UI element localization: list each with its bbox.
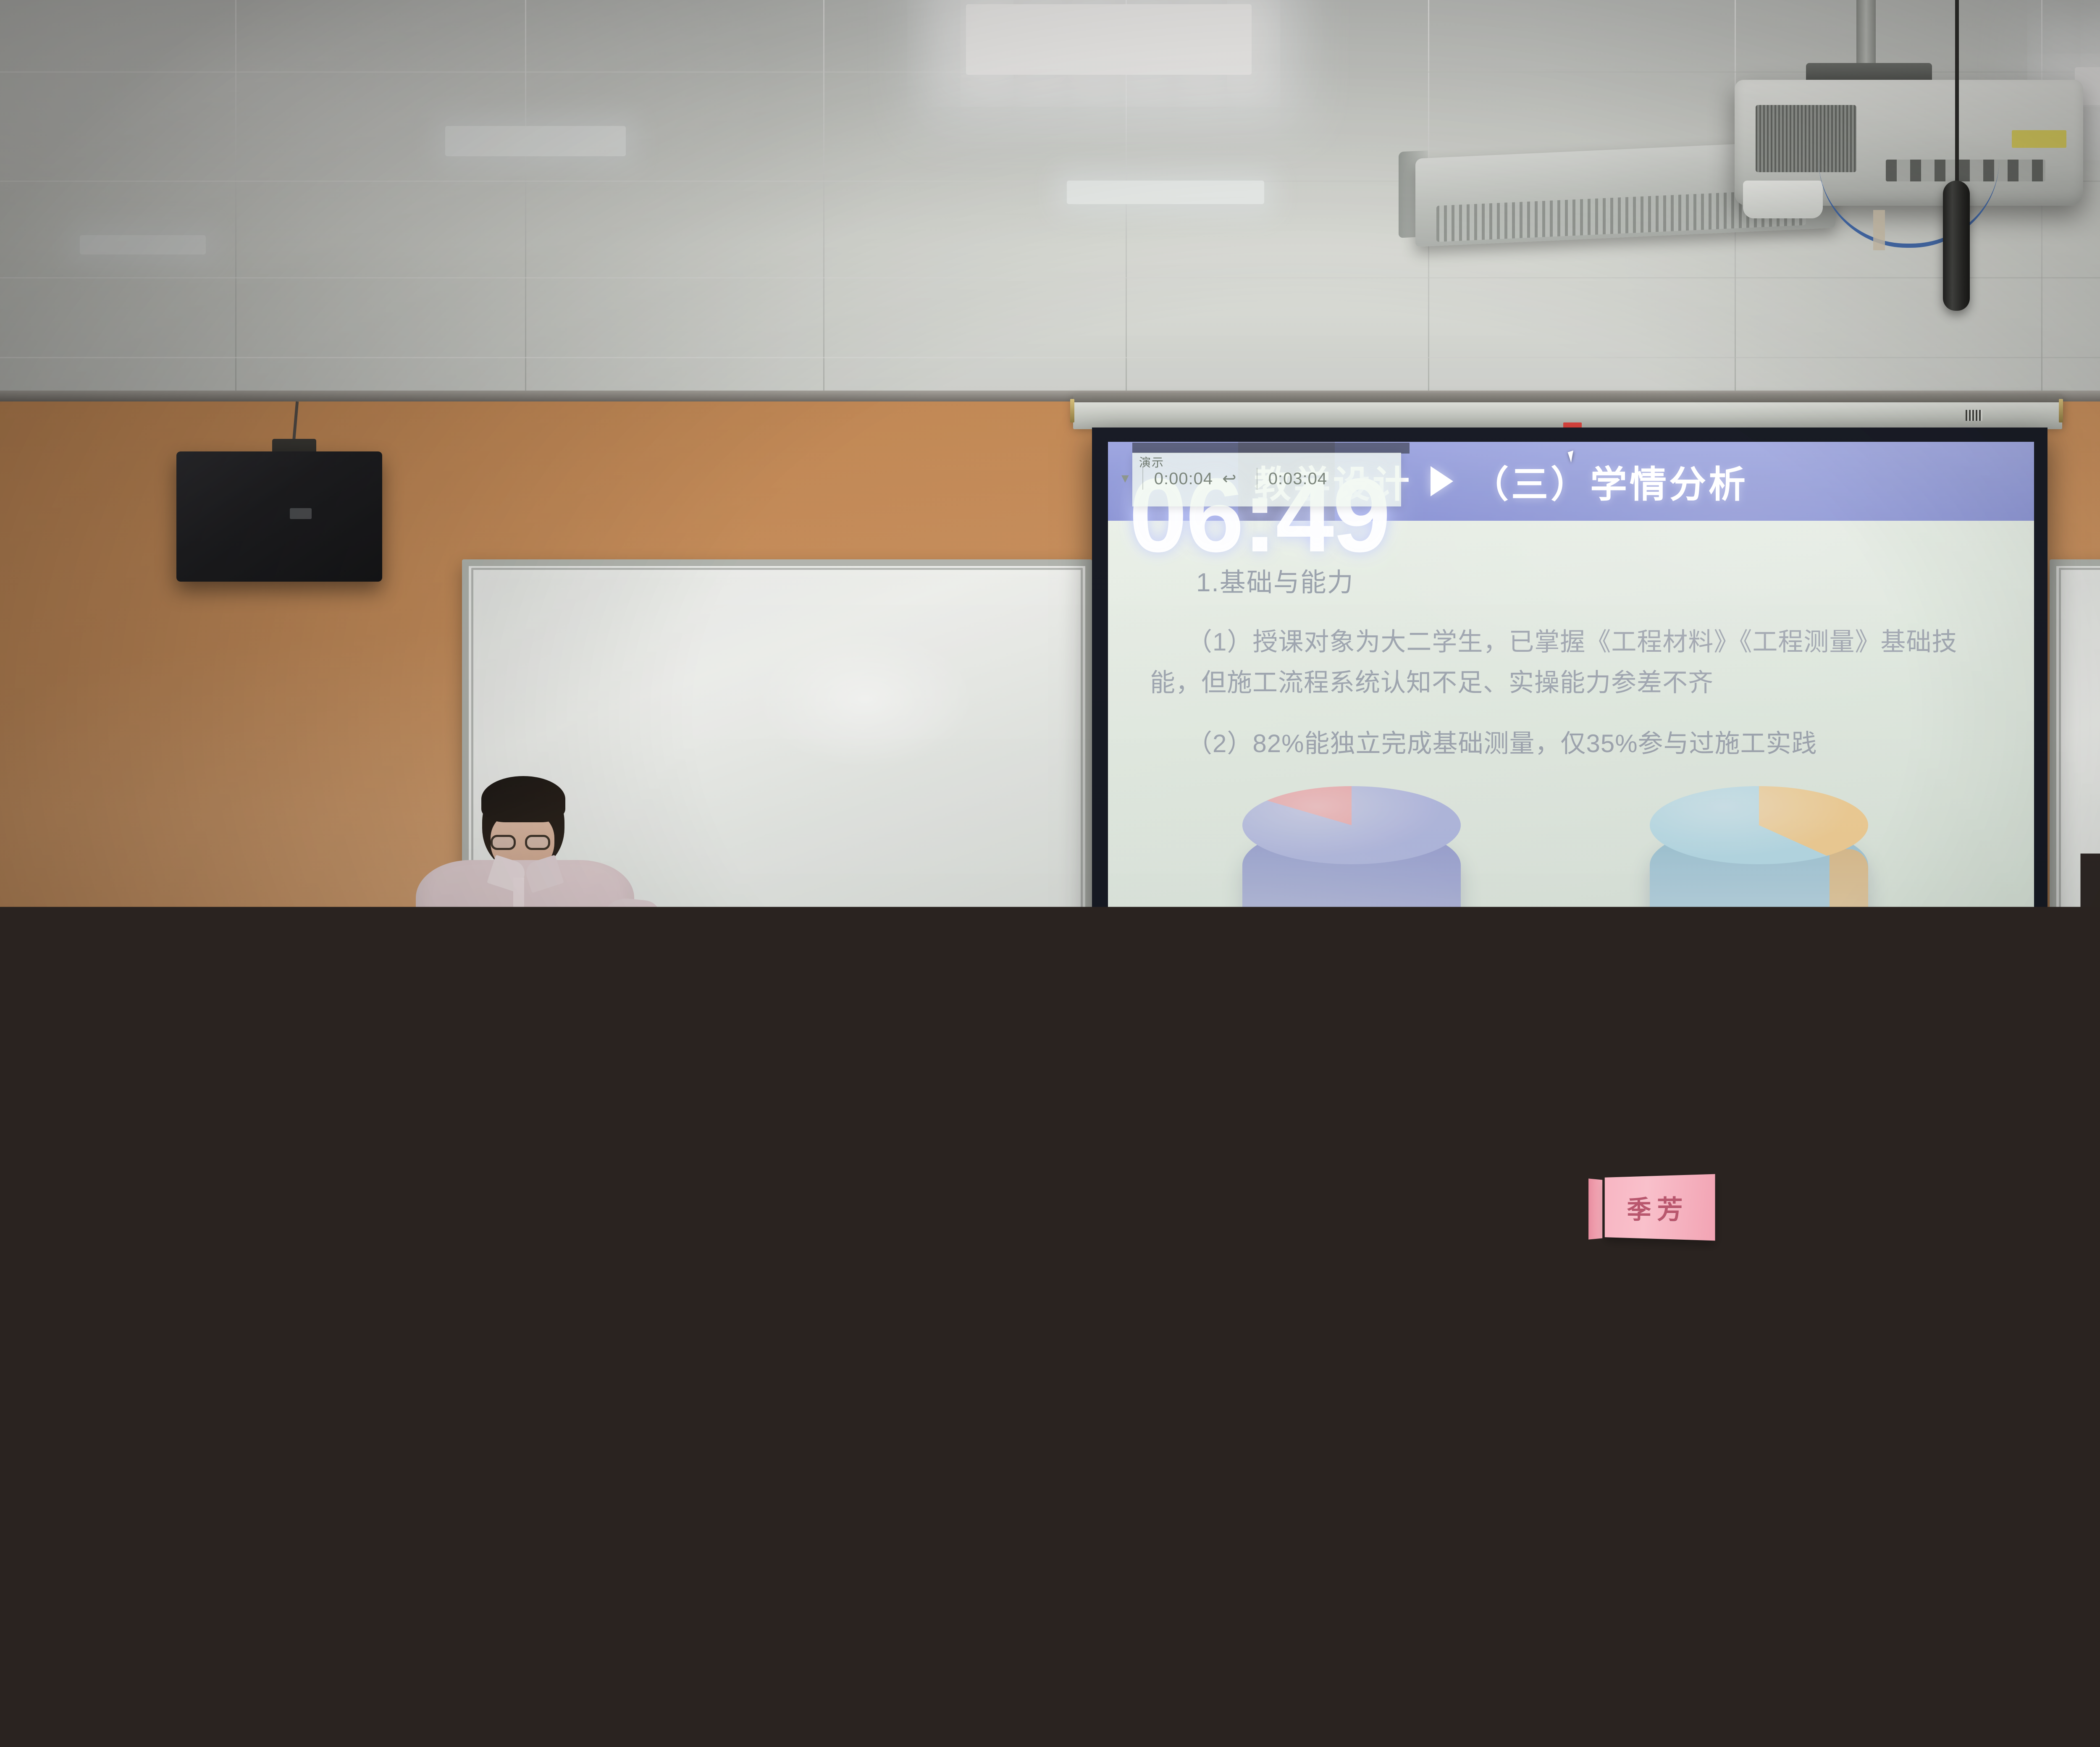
- audience-member: [538, 1062, 735, 1373]
- paper-note[interactable]: [1478, 1075, 1512, 1121]
- media-time-current: 0:00:04: [1154, 470, 1213, 488]
- pie-chart-practice-participation[interactable]: [1650, 786, 1868, 954]
- pie-chart-side-wall-accent: [1830, 849, 1868, 928]
- audience-member: [424, 1377, 601, 1613]
- presenter-hair-front: [481, 776, 565, 822]
- audience-member: [958, 1130, 1672, 1747]
- legend-color-chip: [1860, 1010, 1870, 1020]
- speaker-indicator: [290, 508, 312, 519]
- breadcrumb-arrow-icon: [1431, 466, 1453, 496]
- name-card: 季芳: [1605, 1174, 1715, 1241]
- screen-hook-left: [1070, 399, 1074, 422]
- chart-area: [1108, 769, 2034, 988]
- more-dots-icon[interactable]: [1296, 995, 1322, 1021]
- pen-icon[interactable]: [1175, 995, 1201, 1021]
- thermos-mug[interactable]: [559, 1663, 643, 1747]
- timer-panel-titlebar: [1132, 443, 1410, 454]
- legend-label: 参与过施工实践: [1721, 1003, 1838, 1027]
- legend-item: 参与过施工实践: [1703, 1003, 1860, 1027]
- water-bottle[interactable]: [739, 1230, 785, 1356]
- divider: [1257, 468, 1257, 490]
- handout-papers[interactable]: [197, 1025, 491, 1099]
- mug-lid: [570, 1650, 632, 1669]
- annotation-toolbar[interactable]: ↰: [1135, 995, 1362, 1021]
- laptop[interactable]: [1008, 1348, 1142, 1428]
- presenter-glasses-icon: [491, 835, 554, 850]
- legend-label: 不能独立完成基础测量: [1413, 1003, 1581, 1027]
- slide-paragraph-2: （2）82%能独立完成基础测量，仅35%参与过施工实践: [1187, 723, 1992, 760]
- pie-chart-top-face: [1650, 786, 1868, 864]
- legend-color-chip: [1703, 1010, 1713, 1020]
- smartphone[interactable]: [937, 1583, 1042, 1617]
- undo-arrow-icon[interactable]: ↰: [1336, 995, 1362, 1021]
- chevron-down-icon[interactable]: ▼: [1119, 472, 1131, 486]
- pie-chart-measurement-ability[interactable]: [1242, 786, 1461, 954]
- wall-speaker: [176, 451, 382, 582]
- pie-chart-top-face: [1242, 786, 1461, 864]
- whiteboard-right-inner-edge: [2059, 568, 2100, 971]
- loop-icon[interactable]: ↩: [1222, 469, 1236, 488]
- breadcrumb-part-2: （三）学情分析: [1472, 455, 1748, 508]
- camera-icon[interactable]: [1256, 995, 1282, 1021]
- bottle-cap: [740, 1219, 785, 1238]
- legend-item: 不能独立完成基础测量: [1395, 1003, 1603, 1027]
- name-card-text: 季芳: [1627, 1188, 1689, 1227]
- select-frame-icon[interactable]: [1215, 995, 1242, 1021]
- divider: [1142, 468, 1143, 490]
- play-icon[interactable]: [1135, 995, 1161, 1021]
- nameplate-fold: [1588, 1178, 1602, 1239]
- bottle-cap: [975, 1281, 1021, 1299]
- screen-hook-right: [2059, 399, 2063, 422]
- screen-asset-barcode: [1966, 410, 1982, 421]
- ceiling-shading: [0, 0, 2100, 395]
- audience-member: [1680, 1398, 2100, 1747]
- paper-fold-line: [332, 1030, 333, 1094]
- thermos-mug[interactable]: [1903, 1331, 1974, 1403]
- lectern-knob[interactable]: [113, 1079, 150, 1116]
- projected-slide[interactable]: 教学设计 （三）学情分析 06:49 演示 ▼ 0:00:04 ↩ 0:03:0…: [1108, 442, 2034, 1048]
- slide-paragraph-1: （1）授课对象为大二学生，已掌握《工程材料》《工程测量》基础技能，但施工流程系统…: [1150, 622, 1992, 703]
- media-control-row: ▼ 0:00:04 ↩ 0:03:04: [1108, 464, 1377, 494]
- legend-color-chip: [1395, 1010, 1405, 1020]
- audience-member: [1701, 1037, 1911, 1356]
- slide-paragraph-1-text: （1）授课对象为大二学生，已掌握《工程材料》《工程测量》基础技能，但施工流程系统…: [1150, 628, 1957, 697]
- classroom-scene: 教学设计 （三）学情分析 06:49 演示 ▼ 0:00:04 ↩ 0:03:0…: [0, 0, 2100, 1747]
- bottle-label: MOCCI: [979, 1314, 1006, 1410]
- media-time-total: 0:03:04: [1268, 470, 1327, 488]
